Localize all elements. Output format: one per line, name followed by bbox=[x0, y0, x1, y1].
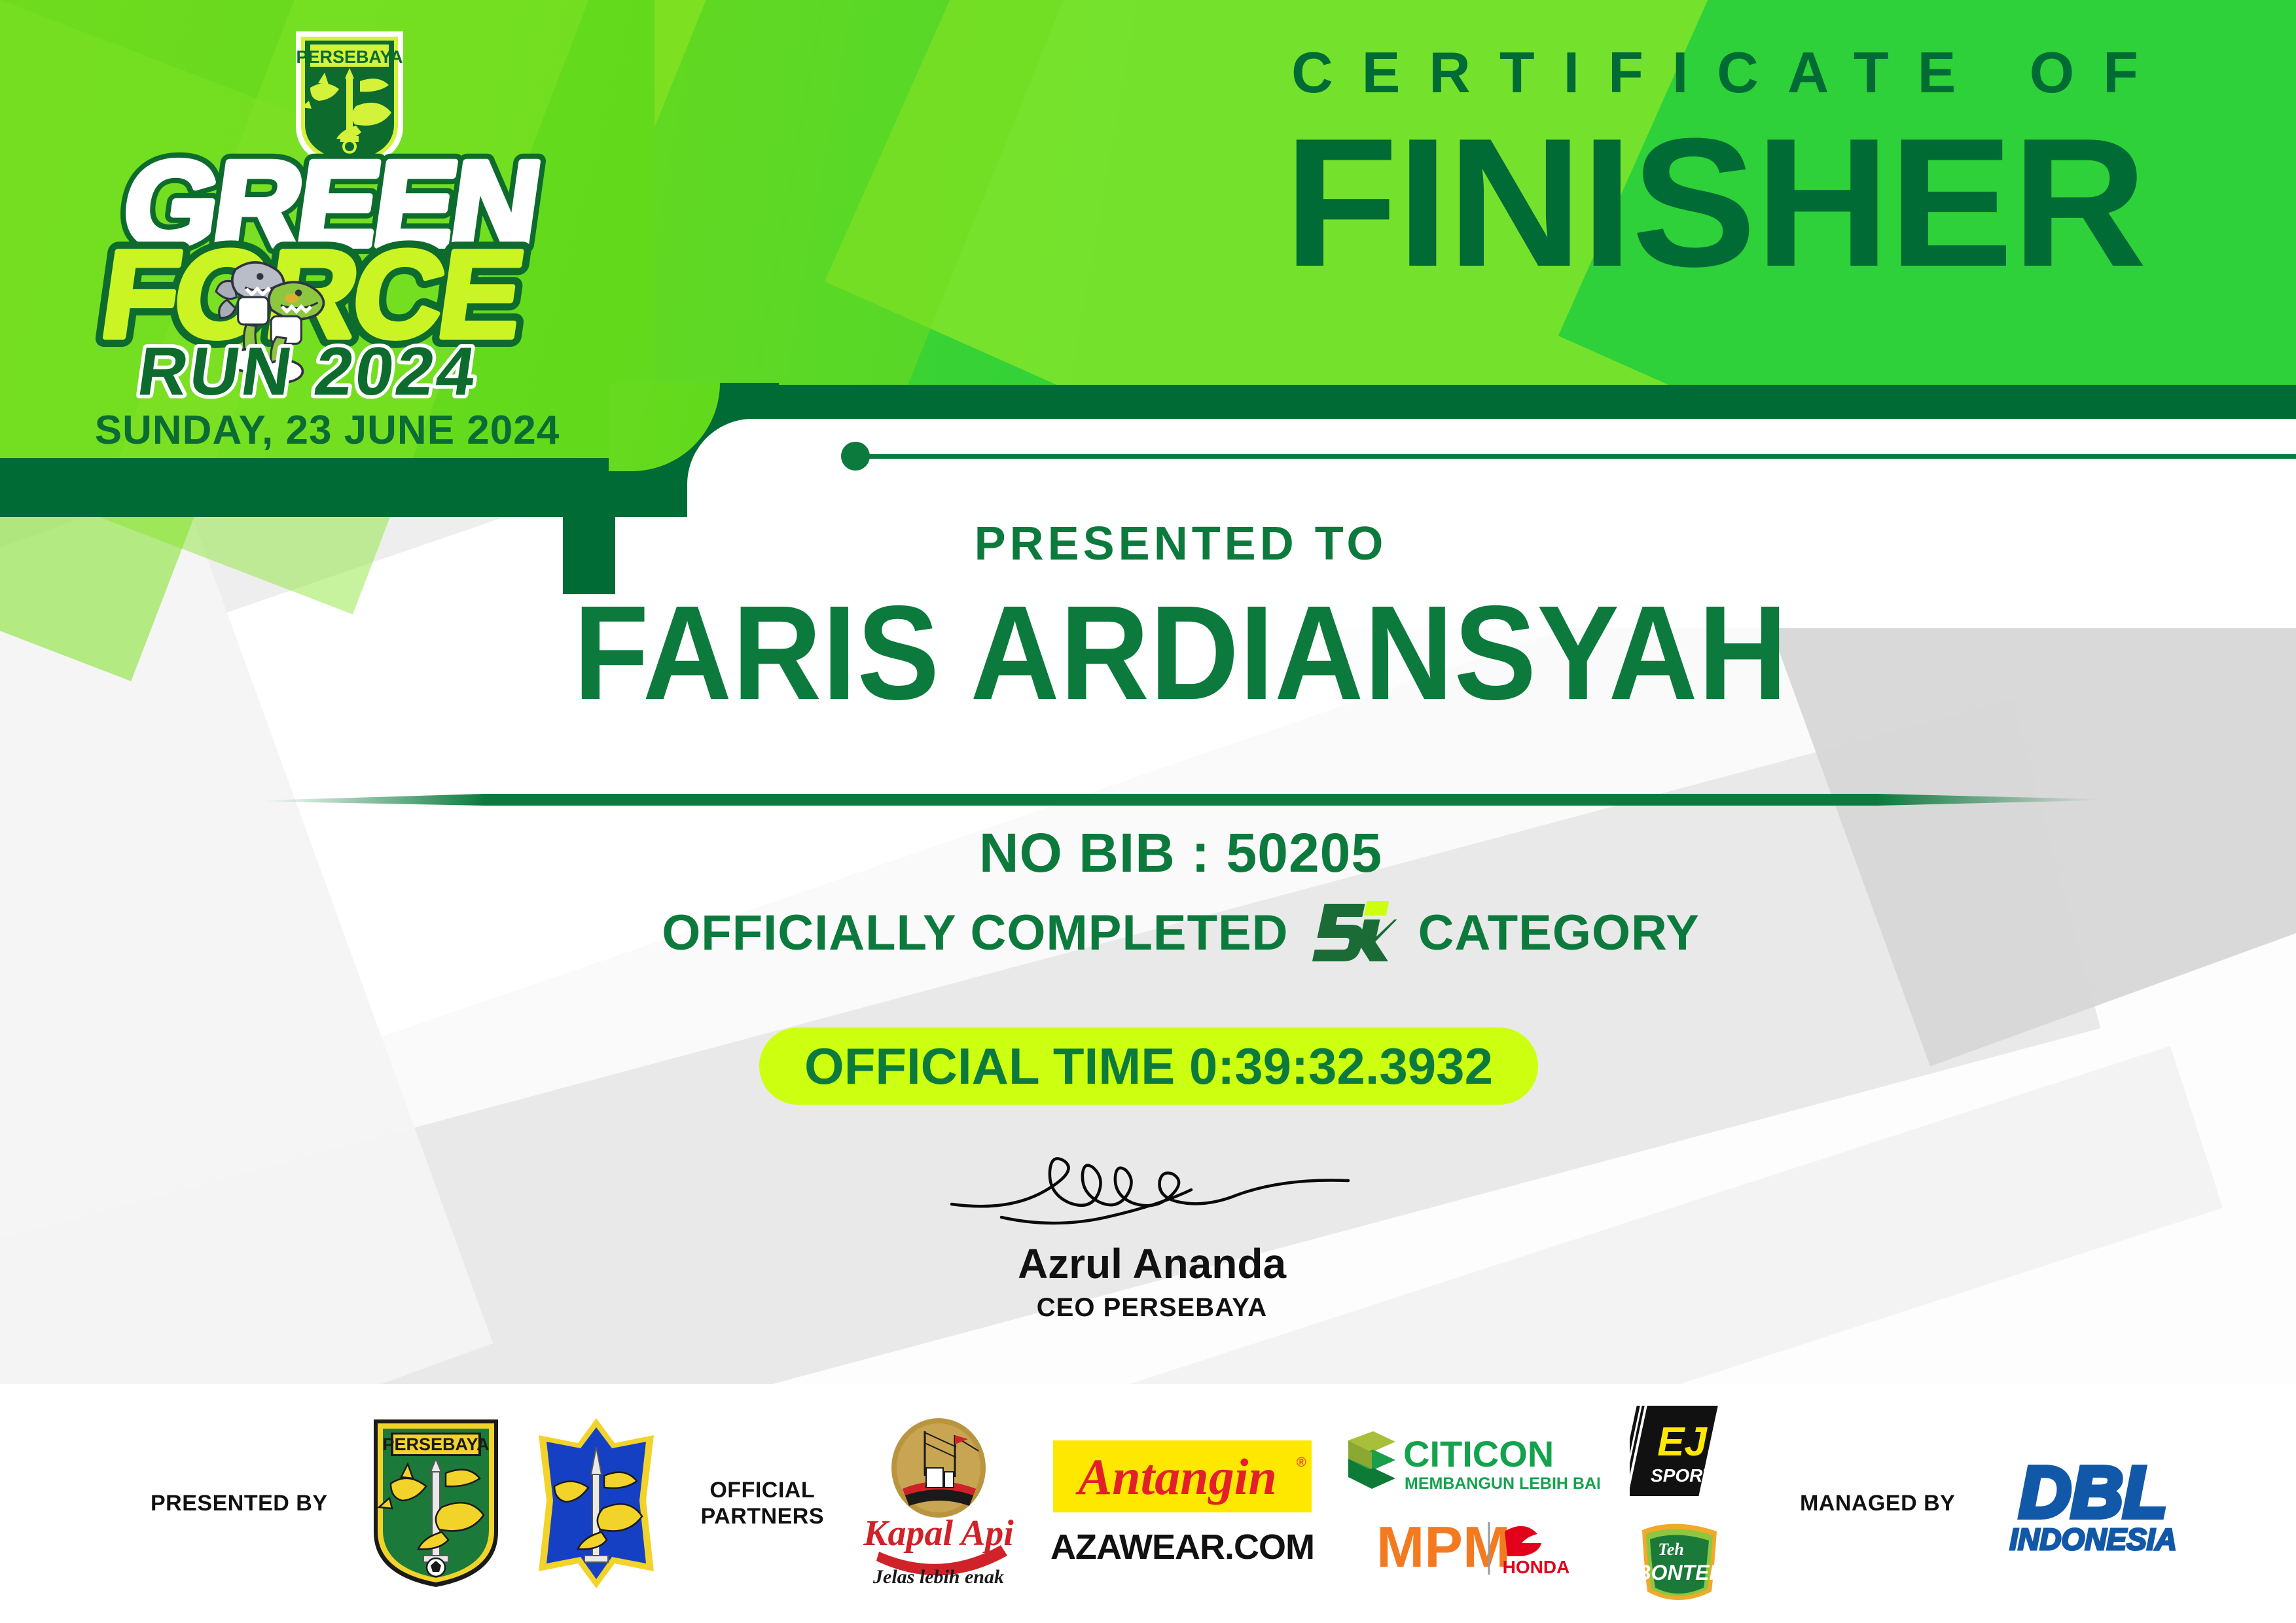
sponsor-label-dbl: DBL bbox=[2019, 1452, 2167, 1533]
official-time-pill: OFFICIAL TIME 0:39:32.3932 bbox=[759, 1027, 1538, 1105]
sponsor-logo-surabaya-crest bbox=[531, 1416, 662, 1592]
presented-to-label: PRESENTED TO bbox=[592, 517, 1770, 571]
sponsor-logo-kapal-api: Kapal Api Jelas lebih enak bbox=[857, 1417, 1020, 1590]
presented-by-label: PRESENTED BY bbox=[151, 1491, 328, 1516]
bib-number-line: NO BIB : 50205 bbox=[592, 821, 1770, 885]
sponsor-footer: PRESENTED BY PERSEBAYA bbox=[0, 1384, 2296, 1623]
green-force-run-logo: GREEN GREEN FORCE FORCE bbox=[92, 141, 589, 402]
official-partners-line1: OFFICIAL bbox=[701, 1478, 825, 1503]
persebaya-crest-label: PERSEBAYA bbox=[296, 47, 403, 67]
sponsor-tagline-dbl: INDONESIA bbox=[2010, 1522, 2178, 1556]
certificate-canvas: CERTIFICATE OF FINISHER PERSEBAYA bbox=[0, 0, 2296, 1623]
sponsor-logo-citicon: CITICON MEMBANGUN LEBIH BAIK bbox=[1344, 1429, 1600, 1497]
decor-dot-icon bbox=[841, 442, 870, 471]
sponsor-label-teh: Teh bbox=[1658, 1540, 1684, 1559]
logo-line-3: RUN 2024 bbox=[133, 333, 482, 402]
sponsor-label-ej: EJ bbox=[1657, 1419, 1708, 1465]
category-5k-badge-icon: 5K bbox=[1304, 893, 1403, 972]
certificate-kicker: CERTIFICATE OF bbox=[1204, 39, 2225, 106]
sponsor-label-mpm: MPM bbox=[1376, 1517, 1511, 1579]
sponsor-group-antangin-azawear: Antangin ® AZAWEAR.COM bbox=[1050, 1440, 1314, 1567]
sponsor-logo-ej-sport: EJ SPORT bbox=[1630, 1402, 1728, 1500]
official-partners-label: OFFICIAL PARTNERS bbox=[701, 1478, 825, 1529]
sponsor-tagline-ej-sport: SPORT bbox=[1651, 1465, 1715, 1486]
sponsor-logo-mpm-honda: MPM HONDA bbox=[1374, 1517, 1570, 1579]
header-bottom-strip bbox=[0, 458, 655, 517]
category-row: OFFICIALLY COMPLETED 5K CATEGORY bbox=[461, 893, 1901, 972]
sponsor-logo-antangin: Antangin ® bbox=[1053, 1440, 1312, 1512]
signatory-name: Azrul Ananda bbox=[916, 1240, 1388, 1288]
header-decor-line bbox=[841, 442, 2296, 471]
signature-block: Azrul Ananda CEO PERSEBAYA bbox=[916, 1152, 1388, 1323]
completed-suffix-label: CATEGORY bbox=[1418, 904, 1700, 961]
certificate-title: FINISHER bbox=[1194, 111, 2235, 294]
event-date: SUNDAY, 23 JUNE 2024 bbox=[0, 407, 655, 454]
recipient-name: FARIS ARDIANSYAH bbox=[338, 576, 2024, 730]
official-time-text: OFFICIAL TIME 0:39:32.3932 bbox=[804, 1037, 1493, 1096]
sponsor-tagline-citicon: MEMBANGUN LEBIH BAIK bbox=[1405, 1474, 1600, 1493]
sponsor-group-citicon-mpm: CITICON MEMBANGUN LEBIH BAIK MPM HONDA bbox=[1344, 1429, 1600, 1579]
sponsor-label-kapal-api: Kapal Api bbox=[863, 1513, 1014, 1554]
sponsor-tagline-bonteh: BONTEH bbox=[1636, 1561, 1725, 1584]
sponsor-label-persebaya: PERSEBAYA bbox=[382, 1435, 489, 1454]
signatory-role: CEO PERSEBAYA bbox=[916, 1293, 1388, 1323]
sponsor-tagline-kapal-api: Jelas lebih enak bbox=[872, 1566, 1004, 1588]
sponsor-tagline-honda: HONDA bbox=[1503, 1557, 1570, 1577]
official-partners-line2: PARTNERS bbox=[701, 1504, 825, 1529]
sponsor-logo-teh-bonteh: Teh BONTEH bbox=[1633, 1517, 1725, 1605]
sponsor-label-antangin: Antangin bbox=[1075, 1448, 1277, 1505]
name-underline-rule bbox=[264, 794, 2097, 806]
managed-by-label: MANAGED BY bbox=[1800, 1491, 1955, 1516]
sponsor-group-ej-teh: EJ SPORT Teh BONTEH bbox=[1630, 1402, 1728, 1605]
svg-text:®: ® bbox=[1297, 1455, 1306, 1470]
sponsor-logo-persebaya-crest: PERSEBAYA bbox=[367, 1416, 505, 1592]
signature-icon bbox=[929, 1152, 1374, 1230]
completed-prefix-label: OFFICIALLY COMPLETED bbox=[662, 904, 1288, 961]
sponsor-label-citicon: CITICON bbox=[1403, 1433, 1554, 1474]
sponsor-label-azawear: AZAWEAR.COM bbox=[1050, 1527, 1314, 1567]
sponsor-logo-dbl-indonesia: DBL INDONESIA bbox=[1985, 1446, 2201, 1561]
